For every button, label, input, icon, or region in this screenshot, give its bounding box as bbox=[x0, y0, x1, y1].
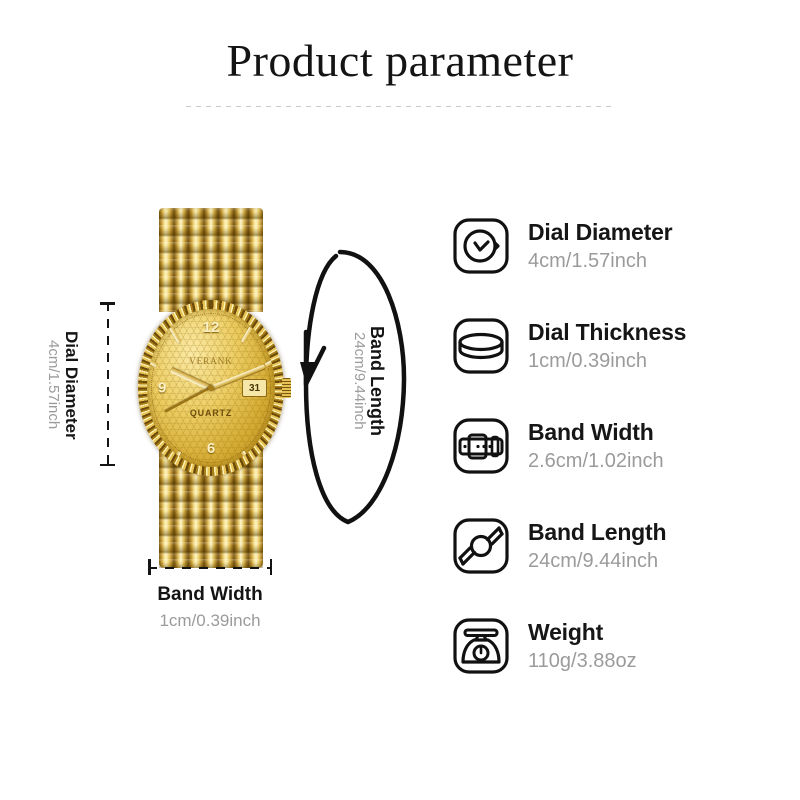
band-width-value: 1cm/0.39inch bbox=[100, 611, 320, 631]
band-length-loop-arrow: 24cm/9.44inch Band Length bbox=[300, 208, 410, 538]
spec-text: Dial Thickness 1cm/0.39inch bbox=[528, 319, 686, 372]
header-divider bbox=[186, 106, 616, 107]
spec-value: 1cm/0.39inch bbox=[528, 349, 686, 373]
spec-label: Dial Thickness bbox=[528, 319, 686, 345]
dial-diameter-annotation: 4cm/1.57inch Dial Diameter bbox=[46, 300, 80, 470]
page-title: Product parameter bbox=[0, 34, 800, 87]
hands-pivot bbox=[208, 385, 214, 391]
hour-marker bbox=[265, 427, 275, 439]
dial-diameter-measure-line bbox=[104, 302, 111, 466]
spec-label: Band Length bbox=[528, 519, 666, 545]
spec-label: Band Width bbox=[528, 419, 664, 445]
watch-clasp-icon bbox=[452, 417, 510, 475]
cylinder-thickness-icon bbox=[452, 317, 510, 375]
dial-brand-text: VERANK bbox=[189, 356, 233, 366]
spec-value: 110g/3.88oz bbox=[528, 649, 637, 673]
measure-shaft bbox=[148, 567, 272, 569]
watch-case-bezel: 12 9 6 VERANK QUARTZ 31 bbox=[138, 300, 284, 476]
measure-cap-right bbox=[270, 559, 273, 575]
spec-row-dial-thickness: Dial Thickness 1cm/0.39inch bbox=[452, 296, 782, 396]
spec-value: 4cm/1.57inch bbox=[528, 249, 672, 273]
spec-text: Band Length 24cm/9.44inch bbox=[528, 519, 666, 572]
dial-numeral-9: 9 bbox=[158, 380, 166, 397]
watch-dial: 12 9 6 VERANK QUARTZ 31 bbox=[147, 309, 275, 467]
measure-cap-bottom bbox=[100, 464, 115, 467]
spec-label: Dial Diameter bbox=[528, 219, 672, 245]
spec-value: 24cm/9.44inch bbox=[528, 549, 666, 573]
spec-list: Dial Diameter 4cm/1.57inch Dial Thicknes… bbox=[452, 196, 782, 696]
spec-text: Dial Diameter 4cm/1.57inch bbox=[528, 219, 672, 272]
watch-strap-icon bbox=[452, 517, 510, 575]
date-window: 31 bbox=[242, 379, 267, 397]
watch-clock-icon bbox=[452, 217, 510, 275]
kitchen-scale-icon bbox=[452, 617, 510, 675]
product-parameter-page: Product parameter bbox=[0, 0, 800, 800]
band-length-annotation: 24cm/9.44inch Band Length bbox=[352, 286, 386, 476]
watch-image: 12 9 6 VERANK QUARTZ 31 bbox=[138, 208, 284, 568]
watch-diagram: 12 9 6 VERANK QUARTZ 31 4cm/1.57inc bbox=[0, 150, 440, 670]
dial-numeral-6: 6 bbox=[207, 440, 215, 457]
dial-numeral-12: 12 bbox=[203, 319, 220, 336]
dial-diameter-label: Dial Diameter bbox=[63, 331, 80, 440]
bracelet-top bbox=[159, 208, 263, 312]
spec-value: 2.6cm/1.02inch bbox=[528, 449, 664, 473]
hour-marker bbox=[169, 451, 181, 467]
band-length-value: 24cm/9.44inch bbox=[352, 332, 367, 430]
dial-movement-text: QUARTZ bbox=[190, 408, 232, 418]
spec-row-weight: Weight 110g/3.88oz bbox=[452, 596, 782, 696]
dial-diameter-value: 4cm/1.57inch bbox=[46, 340, 61, 429]
spec-row-band-length: Band Length 24cm/9.44inch bbox=[452, 496, 782, 596]
hour-marker bbox=[147, 427, 157, 439]
band-width-measure-line bbox=[148, 564, 272, 571]
spec-row-dial-diameter: Dial Diameter 4cm/1.57inch bbox=[452, 196, 782, 296]
spec-row-band-width: Band Width 2.6cm/1.02inch bbox=[452, 396, 782, 496]
band-length-label: Band Length bbox=[368, 326, 386, 436]
measure-shaft bbox=[107, 302, 109, 466]
watch-crown-icon bbox=[282, 378, 291, 398]
spec-text: Weight 110g/3.88oz bbox=[528, 619, 637, 672]
spec-text: Band Width 2.6cm/1.02inch bbox=[528, 419, 664, 472]
band-width-annotation: Band Width 1cm/0.39inch bbox=[100, 584, 320, 631]
spec-label: Weight bbox=[528, 619, 637, 645]
band-width-label: Band Width bbox=[100, 584, 320, 606]
